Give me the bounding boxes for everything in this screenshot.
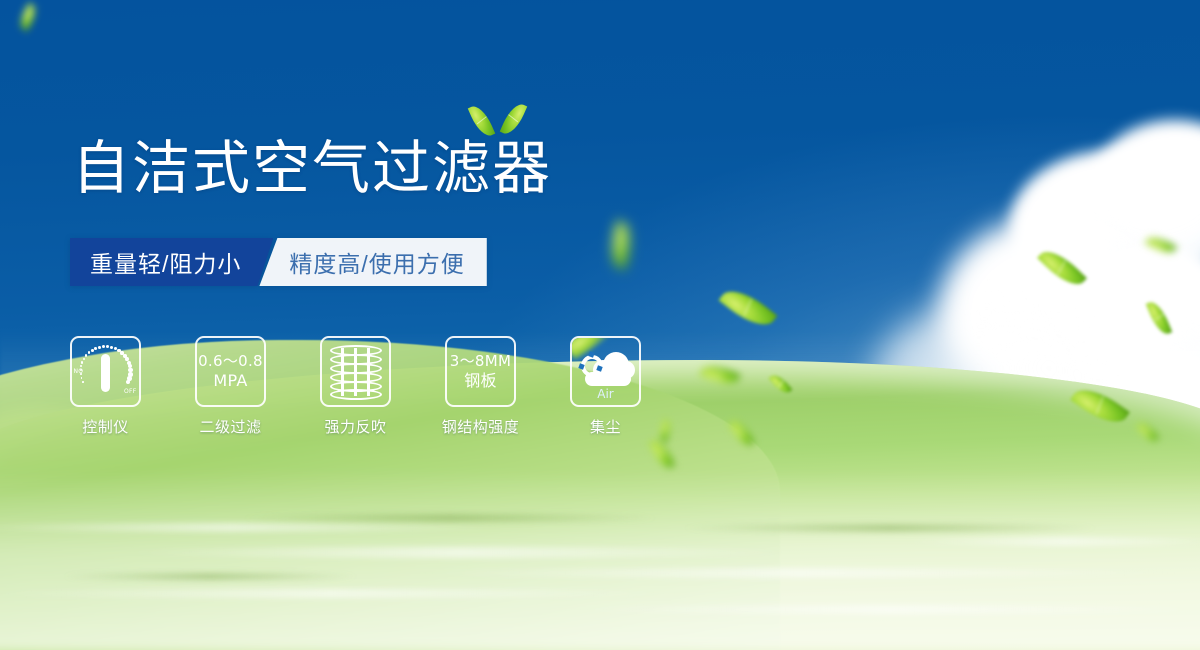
grass-highlight bbox=[0, 470, 1200, 650]
feature-box[interactable]: 3～8MM 钢板 bbox=[445, 336, 516, 407]
filter-stack-icon bbox=[330, 345, 382, 399]
feature-label: 钢结构强度 bbox=[442, 416, 520, 437]
air-cloud-icon: Air bbox=[577, 347, 635, 397]
air-text: Air bbox=[577, 387, 635, 401]
steel-material: 钢板 bbox=[450, 371, 511, 391]
feature-list: NO OFF 控制仪 0.6～0.8 MPA 二级过滤 bbox=[70, 336, 641, 437]
feature-label: 强力反吹 bbox=[324, 416, 386, 437]
feature-label: 控制仪 bbox=[82, 416, 129, 437]
subtitle-right: 精度高/使用方便 bbox=[259, 238, 486, 286]
feature-box[interactable]: Air bbox=[570, 336, 641, 407]
feature-item-pressure[interactable]: 0.6～0.8 MPA 二级过滤 bbox=[195, 336, 266, 437]
feature-label: 集尘 bbox=[590, 416, 621, 437]
subtitle-left: 重量轻/阻力小 bbox=[70, 238, 273, 286]
feature-box[interactable]: 0.6～0.8 MPA bbox=[195, 336, 266, 407]
feature-label: 二级过滤 bbox=[199, 416, 261, 437]
steel-text-icon: 3～8MM 钢板 bbox=[450, 352, 511, 391]
steel-thickness: 3～8MM bbox=[450, 352, 511, 371]
feature-item-steel[interactable]: 3～8MM 钢板 钢结构强度 bbox=[445, 336, 516, 437]
title-block: 自洁式空气过滤器 bbox=[72, 138, 552, 199]
feature-item-controller[interactable]: NO OFF 控制仪 bbox=[70, 336, 141, 437]
product-banner: 自洁式空气过滤器 重量轻/阻力小 精度高/使用方便 NO OFF 控制仪 0.6… bbox=[0, 0, 1200, 650]
gauge-label-no: NO bbox=[74, 368, 84, 375]
feature-item-dust[interactable]: Air 集尘 bbox=[570, 336, 641, 437]
feature-item-blowback[interactable]: 强力反吹 bbox=[320, 336, 391, 437]
gauge-icon: NO OFF bbox=[76, 342, 136, 402]
pressure-text-icon: 0.6～0.8 MPA bbox=[198, 352, 263, 391]
gauge-label-off: OFF bbox=[124, 388, 137, 395]
subtitle-bar: 重量轻/阻力小 精度高/使用方便 bbox=[70, 238, 487, 286]
pressure-range: 0.6～0.8 bbox=[198, 352, 263, 371]
feature-box[interactable]: NO OFF bbox=[70, 336, 141, 407]
sprout-decoration bbox=[468, 100, 538, 150]
gauge-needle bbox=[101, 354, 110, 392]
pressure-unit: MPA bbox=[198, 371, 263, 391]
feature-box[interactable] bbox=[320, 336, 391, 407]
